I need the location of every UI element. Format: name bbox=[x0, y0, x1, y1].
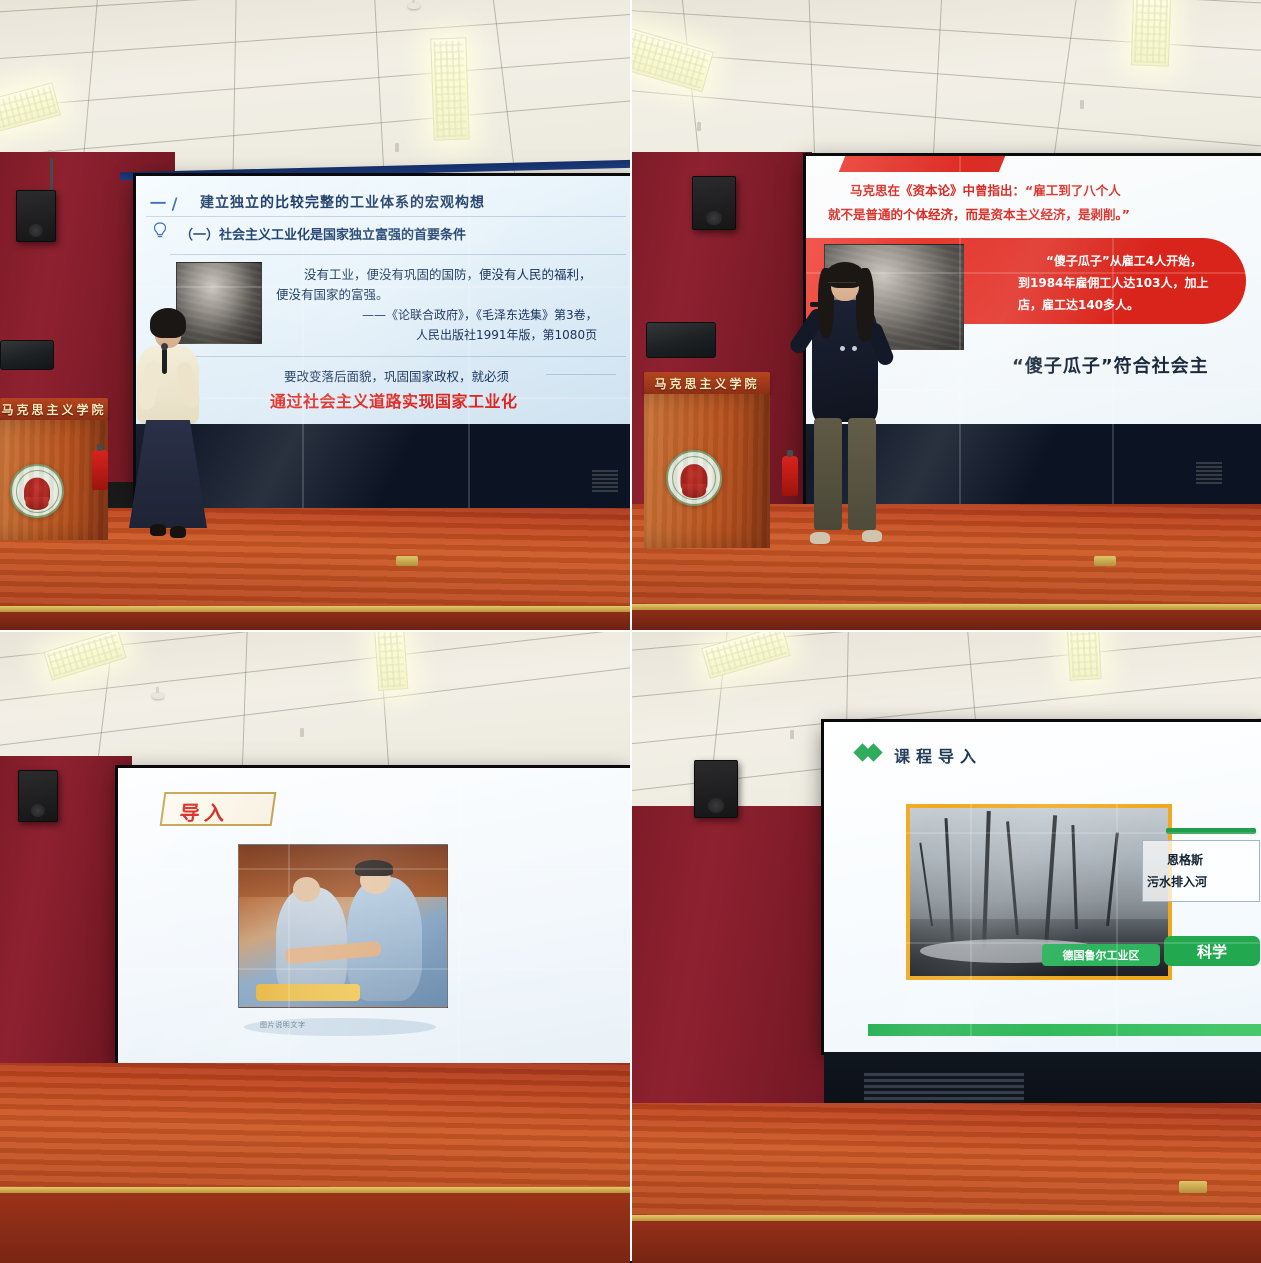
slide-content: 课程导入 德国鲁尔工业区 bbox=[824, 722, 1261, 1052]
text-card: 恩格斯 污水排入河 bbox=[1142, 840, 1260, 902]
slide-source-line2: 人民出版社1991年版，第1080页 bbox=[416, 326, 597, 343]
panel-light bbox=[1131, 0, 1171, 67]
slide-quote-line1: 没有工业，便没有巩固的国防，便没有人民的福利， bbox=[304, 264, 592, 283]
fire-extinguisher-icon bbox=[92, 450, 108, 490]
slide-heading: 建立独立的比较完整的工业体系的宏观构想 bbox=[200, 192, 485, 212]
floor-plate bbox=[396, 556, 418, 566]
school-emblem-icon bbox=[10, 464, 64, 518]
slide-quote-line1: 马克思在《资本论》中曾指出：“雇工到了八个人 bbox=[850, 180, 1121, 199]
photo-tag: 德国鲁尔工业区 bbox=[1042, 944, 1160, 966]
floor-plate bbox=[1179, 1181, 1207, 1193]
stage-floor bbox=[0, 1063, 630, 1263]
sprinkler-icon bbox=[790, 730, 794, 739]
slide-highlight: 通过社会主义道路实现国家工业化 bbox=[270, 388, 518, 412]
card-line1: 恩格斯 bbox=[1167, 851, 1203, 868]
microphone-icon bbox=[162, 348, 167, 374]
sprinkler-icon bbox=[395, 143, 399, 152]
floor-plate bbox=[1094, 556, 1116, 566]
podium-label: 马克思主义学院 bbox=[654, 375, 759, 392]
podium: 马克思主义学院 bbox=[644, 372, 770, 548]
slide-footnote: 图片说明文字 bbox=[260, 1020, 306, 1030]
sprinkler-icon bbox=[697, 122, 701, 131]
vent-grille bbox=[592, 470, 618, 492]
speaker-icon bbox=[692, 176, 736, 230]
video-wall-screen: 课程导入 德国鲁尔工业区 bbox=[824, 722, 1261, 1052]
presenter-skirt bbox=[129, 420, 207, 528]
vent-grille bbox=[1196, 462, 1222, 484]
panel-top-left: 一 / 建立独立的比较完整的工业体系的宏观构想 （一）社会主义工业化是国家独立富… bbox=[0, 0, 630, 630]
podium-label: 马克思主义学院 bbox=[1, 401, 106, 418]
panel-top-right: 马克思在《资本论》中曾指出：“雇工到了八个人 就不是普通的个体经济，而是资本主义… bbox=[632, 0, 1261, 630]
podium-sign: 马克思主义学院 bbox=[644, 372, 770, 394]
slide-subheading: （一）社会主义工业化是国家独立富强的首要条件 bbox=[180, 224, 466, 243]
panel-light bbox=[374, 632, 409, 691]
green-pill-button[interactable]: 科学 bbox=[1164, 936, 1260, 966]
speaker-icon bbox=[694, 760, 738, 818]
panel-light bbox=[1066, 632, 1101, 681]
slide-body-line1: “傻子瓜子”从雇工4人开始， bbox=[1046, 252, 1202, 269]
video-wall-screen: 导入 图片说明文字 bbox=[118, 768, 630, 1068]
photo-collage-grid: 一 / 建立独立的比较完整的工业体系的宏观构想 （一）社会主义工业化是国家独立富… bbox=[0, 0, 1261, 1261]
slide-quote-line2: 就不是普通的个体经济，而是资本主义经济，是剥削。” bbox=[828, 204, 1130, 223]
smoke-detector-icon bbox=[152, 692, 164, 699]
slide-heading: 课程导入 bbox=[894, 743, 982, 767]
speaker-icon bbox=[16, 190, 56, 242]
slide-photo: 德国鲁尔工业区 bbox=[906, 804, 1172, 980]
slide-heading-number: 一 / bbox=[150, 190, 177, 214]
panel-bottom-right: 课程导入 德国鲁尔工业区 bbox=[632, 632, 1261, 1263]
speaker-icon bbox=[18, 770, 58, 822]
slide-body-line3: 店，雇工达140多人。 bbox=[1018, 296, 1139, 313]
sprinkler-icon bbox=[300, 728, 304, 737]
presenter-person bbox=[790, 262, 900, 562]
sprinkler-icon bbox=[1080, 100, 1084, 109]
podium-sign: 马克思主义学院 bbox=[0, 398, 108, 420]
stage-floor bbox=[632, 1103, 1261, 1263]
card-line2: 污水排入河 bbox=[1147, 873, 1207, 890]
smoke-detector-icon bbox=[408, 2, 420, 9]
slide-bottom-line: 要改变落后面貌，巩固国家政权，就必须 bbox=[284, 366, 509, 385]
slide-badge: 导入 bbox=[178, 797, 232, 826]
slide-conclusion: “傻子瓜子”符合社会主 bbox=[1012, 352, 1209, 378]
panel-bottom-left: 导入 图片说明文字 bbox=[0, 632, 630, 1263]
lightbulb-icon bbox=[152, 222, 168, 240]
glasses-icon bbox=[828, 282, 856, 283]
slide-footer-bar bbox=[868, 1024, 1261, 1036]
panel-light bbox=[430, 37, 470, 140]
monitor bbox=[646, 322, 716, 374]
slide-source-line1: ——《论联合政府》，《毛泽东选集》第3卷， bbox=[362, 306, 598, 323]
photo-tag-label: 德国鲁尔工业区 bbox=[1063, 947, 1140, 963]
presenter-person bbox=[120, 308, 216, 558]
school-emblem-icon bbox=[666, 450, 722, 506]
monitor bbox=[0, 340, 54, 384]
slide-content: 导入 图片说明文字 bbox=[118, 768, 630, 1068]
presenter-clicker-icon bbox=[810, 302, 819, 307]
